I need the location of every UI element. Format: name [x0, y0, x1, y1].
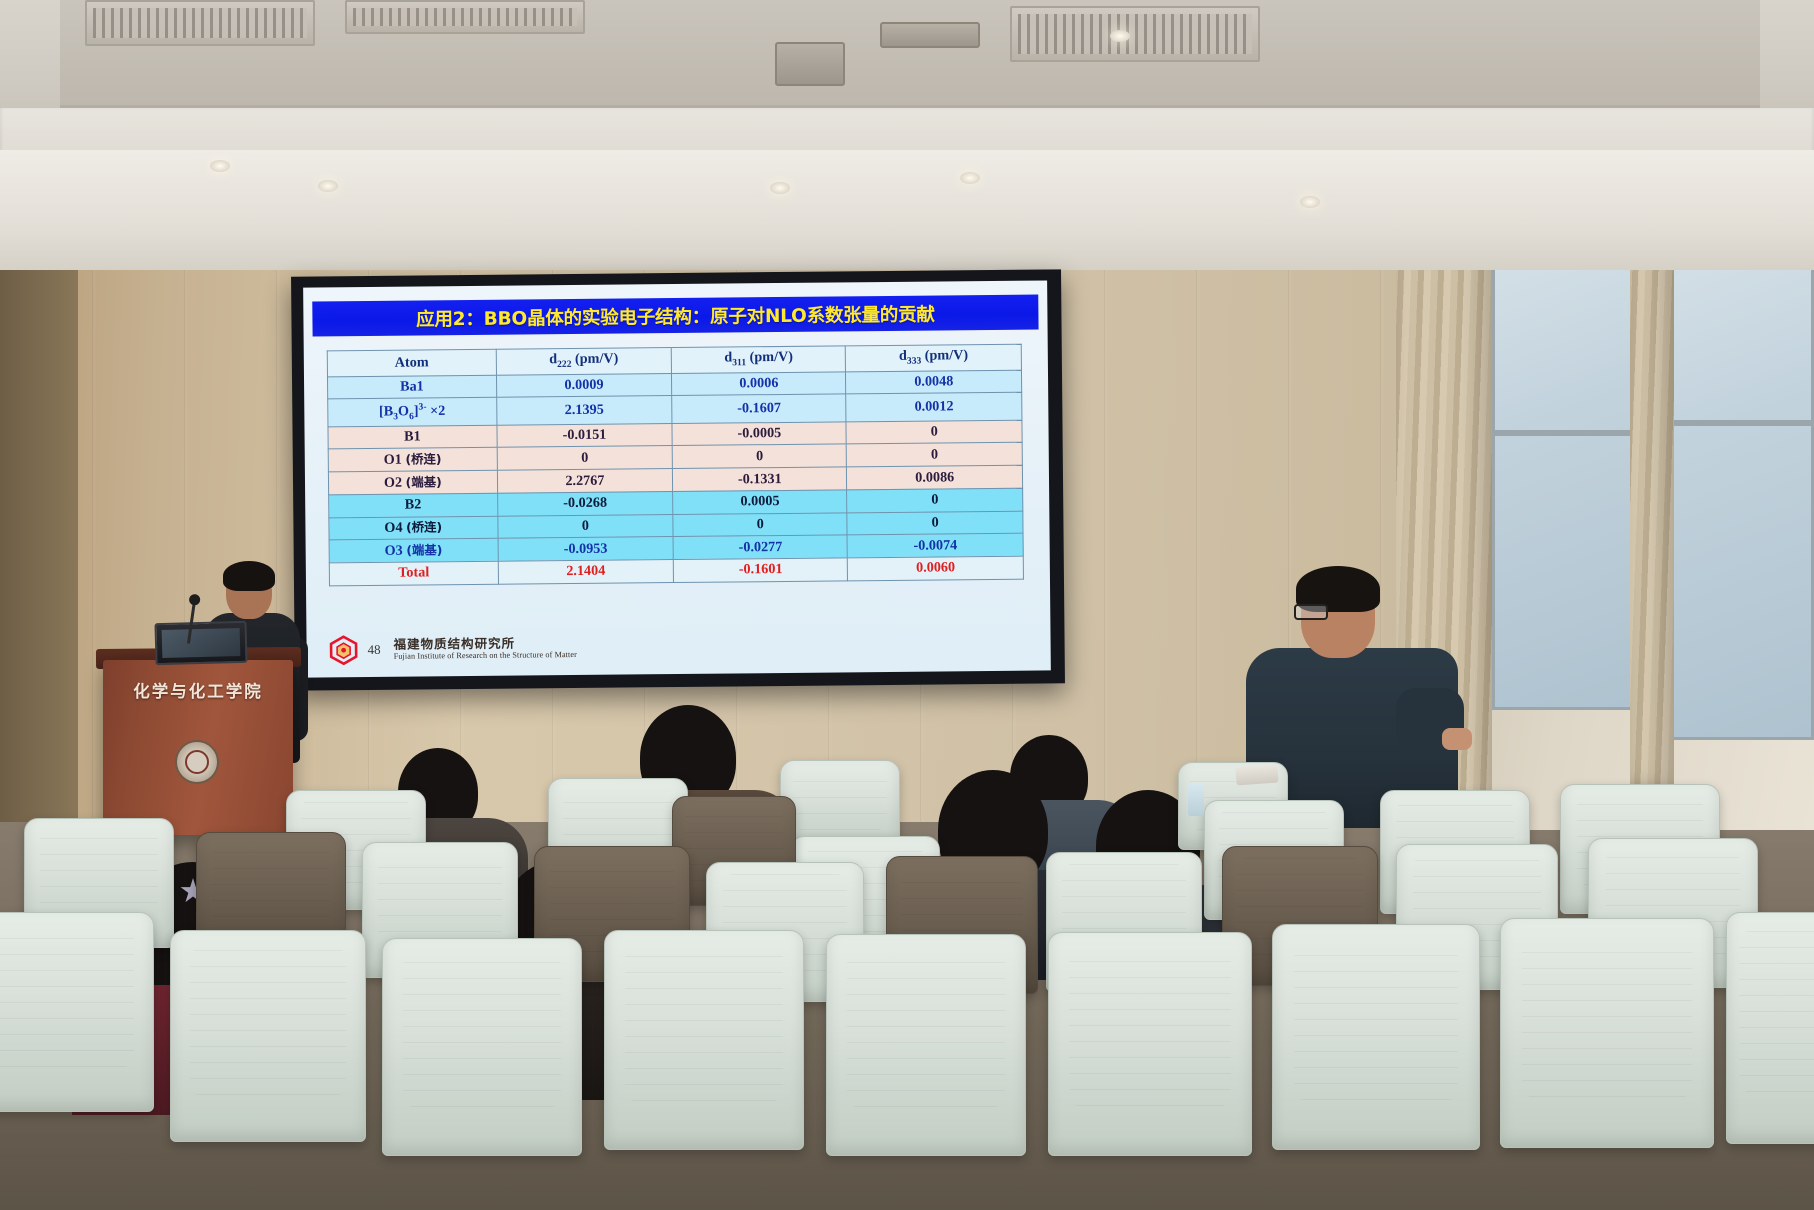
- notebook: [1235, 765, 1278, 786]
- col-header-atom: Atom: [327, 349, 496, 376]
- downlight-6: [1110, 30, 1130, 42]
- seat[interactable]: [170, 930, 366, 1142]
- cell-d222: 0: [498, 514, 674, 538]
- institute-name-en: Fujian Institute of Research on the Stru…: [394, 650, 577, 661]
- cell-atom: O2 (端基): [328, 470, 497, 494]
- cell-atom: B1: [328, 425, 497, 449]
- cell-atom: Ba1: [327, 375, 496, 399]
- col-header-d222: d222 (pm/V): [496, 348, 672, 375]
- cell-d333: 0: [846, 420, 1022, 444]
- cell-d222: 2.1395: [496, 396, 672, 425]
- ac-vent-3: [1010, 6, 1260, 62]
- attendee-hand: [1442, 728, 1472, 750]
- projection-screen: 应用2：BBO晶体的实验电子结构：原子对NLO系数张量的贡献 Atom d222…: [291, 269, 1065, 690]
- downlight-3: [770, 182, 790, 194]
- podium-label: 化学与化工学院: [103, 678, 293, 702]
- cell-atom: [B3O6]3- ×2: [328, 398, 497, 427]
- ceiling-recess: [60, 0, 1760, 108]
- ceiling-lower: [0, 150, 1814, 270]
- cell-d333: 0.0048: [846, 370, 1022, 394]
- seat[interactable]: [1500, 918, 1714, 1148]
- slide-number: 48: [368, 642, 381, 658]
- cell-atom: B2: [329, 493, 498, 517]
- seat[interactable]: [1726, 912, 1814, 1144]
- downlight-4: [960, 172, 980, 184]
- cell-d333: 0.0012: [846, 393, 1022, 422]
- slide-footer: 48 福建物质结构研究所 Fujian Institute of Researc…: [328, 633, 577, 665]
- cell-atom: O1 (桥连): [328, 448, 497, 472]
- seat[interactable]: [382, 938, 582, 1156]
- podium: 化学与化工学院: [103, 660, 293, 835]
- ceiling-speaker: [775, 42, 845, 86]
- water-bottle: [1188, 784, 1204, 816]
- downlight-5: [1300, 196, 1320, 208]
- seat[interactable]: [0, 912, 154, 1112]
- ceiling-panel: [880, 22, 980, 48]
- cell-d222: -0.0151: [497, 423, 673, 447]
- podium-emblem: [175, 740, 219, 784]
- cell-d311: -0.1601: [673, 558, 847, 582]
- window-mullion-h: [1492, 430, 1642, 436]
- cell-atom: Total: [329, 561, 498, 585]
- institute-block: 福建物质结构研究所 Fujian Institute of Research o…: [394, 636, 578, 662]
- presenter-laptop: [154, 621, 247, 665]
- cell-d222: -0.0953: [498, 537, 674, 561]
- ac-vent-1: [85, 0, 315, 46]
- seat[interactable]: [1048, 932, 1252, 1156]
- cell-d222: 0.0009: [496, 373, 672, 397]
- table-body: Ba1 0.0009 0.0006 0.0048 [B3O6]3- ×2 2.1…: [327, 370, 1023, 586]
- lecture-hall-scene: 应用2：BBO晶体的实验电子结构：原子对NLO系数张量的贡献 Atom d222…: [0, 0, 1814, 1210]
- presenter-hair: [223, 561, 275, 591]
- attendee-glasses-icon: [1294, 604, 1328, 620]
- cell-d311: -0.1331: [673, 467, 847, 491]
- cell-d311: 0: [673, 512, 847, 536]
- cell-d222: 0: [497, 446, 673, 470]
- cell-atom: O4 (桥连): [329, 516, 498, 540]
- col-header-d311: d311 (pm/V): [671, 346, 846, 373]
- col-header-d333: d333 (pm/V): [846, 344, 1022, 371]
- seat[interactable]: [604, 930, 804, 1150]
- cell-d222: 2.1404: [498, 559, 674, 583]
- slide-title: 应用2：BBO晶体的实验电子结构：原子对NLO系数张量的贡献: [416, 300, 935, 331]
- cell-d333: 0.0086: [847, 465, 1023, 489]
- cell-d333: 0: [847, 511, 1023, 535]
- cell-d311: -0.0005: [672, 422, 846, 446]
- nlo-contribution-table: Atom d222 (pm/V) d311 (pm/V) d333 (pm/V)…: [327, 344, 1024, 586]
- cell-d333: 0.0060: [848, 556, 1024, 580]
- cell-d311: 0.0005: [673, 490, 847, 514]
- slide-content: 应用2：BBO晶体的实验电子结构：原子对NLO系数张量的贡献 Atom d222…: [303, 280, 1051, 677]
- cell-d333: -0.0074: [847, 533, 1023, 557]
- cell-atom: O3 (端基): [329, 538, 498, 562]
- seat[interactable]: [826, 934, 1026, 1156]
- cell-d222: 2.2767: [497, 469, 673, 493]
- cell-d311: -0.1607: [672, 394, 847, 423]
- slide-title-bar: 应用2：BBO晶体的实验电子结构：原子对NLO系数张量的贡献: [312, 295, 1038, 337]
- left-wall-dark: [0, 262, 78, 822]
- cell-d311: 0: [672, 444, 846, 468]
- window-mullion-h2: [1660, 420, 1814, 426]
- cell-d333: 0: [847, 488, 1023, 512]
- downlight-2: [318, 180, 338, 192]
- cell-d311: 0.0006: [672, 372, 846, 396]
- hexagon-logo-icon: [328, 635, 358, 665]
- cell-d222: -0.0268: [497, 491, 673, 515]
- seat[interactable]: [1272, 924, 1480, 1150]
- ac-vent-2: [345, 0, 585, 34]
- cell-d311: -0.0277: [673, 535, 847, 559]
- downlight-1: [210, 160, 230, 172]
- cell-d333: 0: [847, 443, 1023, 467]
